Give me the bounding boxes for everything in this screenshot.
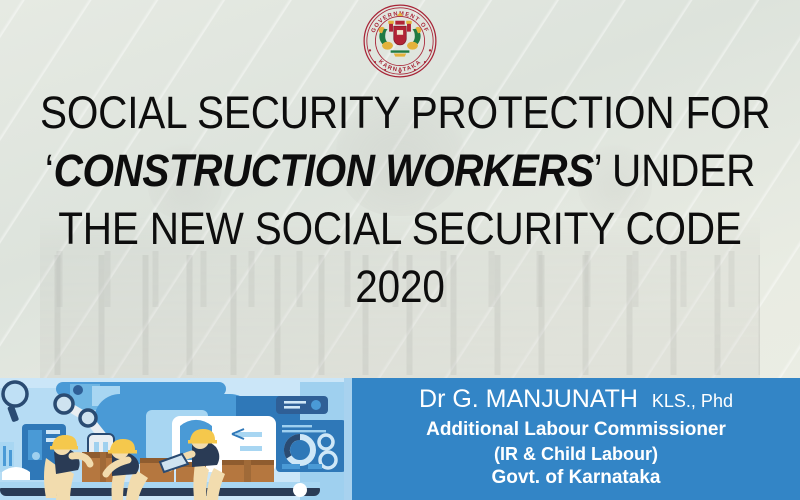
presenter-qualifications: KLS., Phd: [652, 391, 733, 411]
title-quote-close: ’ UNDER: [594, 145, 755, 196]
government-of-karnataka-emblem-icon: GOVERNMENT OF KARNATAKA: [358, 2, 442, 80]
title-quote-open: ‘: [45, 145, 54, 196]
industrial-workers-illustration: [0, 354, 362, 500]
presenter-role: Additional Labour Commissioner: [352, 417, 800, 442]
title-emphasis: CONSTRUCTION WORKERS: [54, 145, 594, 196]
presenter-organisation: Govt. of Karnataka: [352, 466, 800, 490]
slide-title: SOCIAL SECURITY PROTECTION FOR ‘CONSTRUC…: [0, 84, 800, 316]
presenter-panel: Dr G. MANJUNATH KLS., Phd Additional Lab…: [352, 378, 800, 500]
title-line-1: SOCIAL SECURITY PROTECTION FOR: [40, 84, 760, 142]
title-line-2: ‘CONSTRUCTION WORKERS’ UNDER: [40, 142, 760, 200]
presenter-name: Dr G. MANJUNATH: [419, 385, 638, 413]
title-line-3: THE NEW SOCIAL SECURITY CODE: [40, 200, 760, 258]
presentation-slide: GOVERNMENT OF KARNATAKA: [0, 0, 800, 500]
title-line-4: 2020: [40, 258, 760, 316]
presenter-department: (IR & Child Labour): [352, 442, 800, 466]
presenter-name-row: Dr G. MANJUNATH KLS., Phd: [352, 384, 800, 417]
